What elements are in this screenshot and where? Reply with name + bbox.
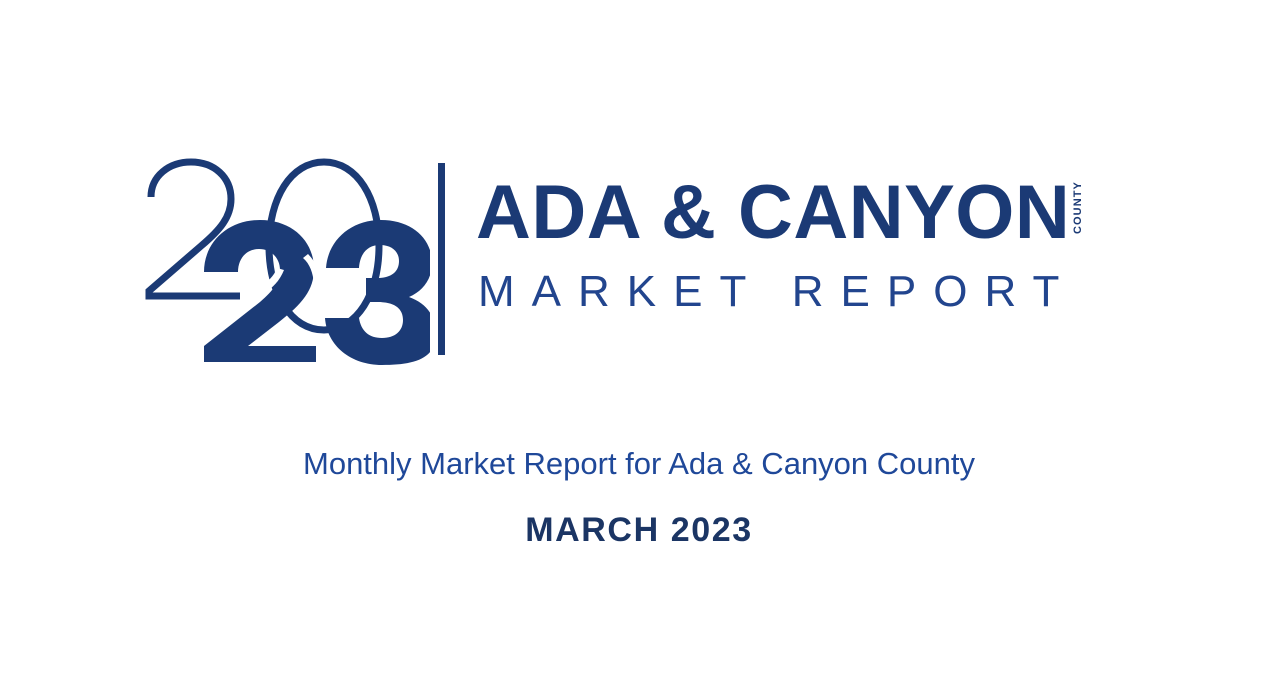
brand-county-superscript: COUNTY	[1073, 181, 1084, 234]
logo-divider-bar	[438, 163, 445, 355]
year-mark-2023	[140, 150, 430, 365]
brand-name-text: ADA & CANYON	[476, 175, 1070, 251]
cover-report-date: MARCH 2023	[0, 508, 1278, 552]
cover-subtitle: Monthly Market Report for Ada & Canyon C…	[0, 444, 1278, 484]
brand-wordmark-secondary-line: MARKET REPORT	[478, 270, 1076, 314]
market-report-logo: ADA & CANYON COUNTY MARKET REPORT	[140, 150, 1140, 365]
brand-wordmark-primary-line: ADA & CANYON COUNTY	[476, 175, 1084, 251]
cover-page: ADA & CANYON COUNTY MARKET REPORT Monthl…	[0, 0, 1278, 674]
